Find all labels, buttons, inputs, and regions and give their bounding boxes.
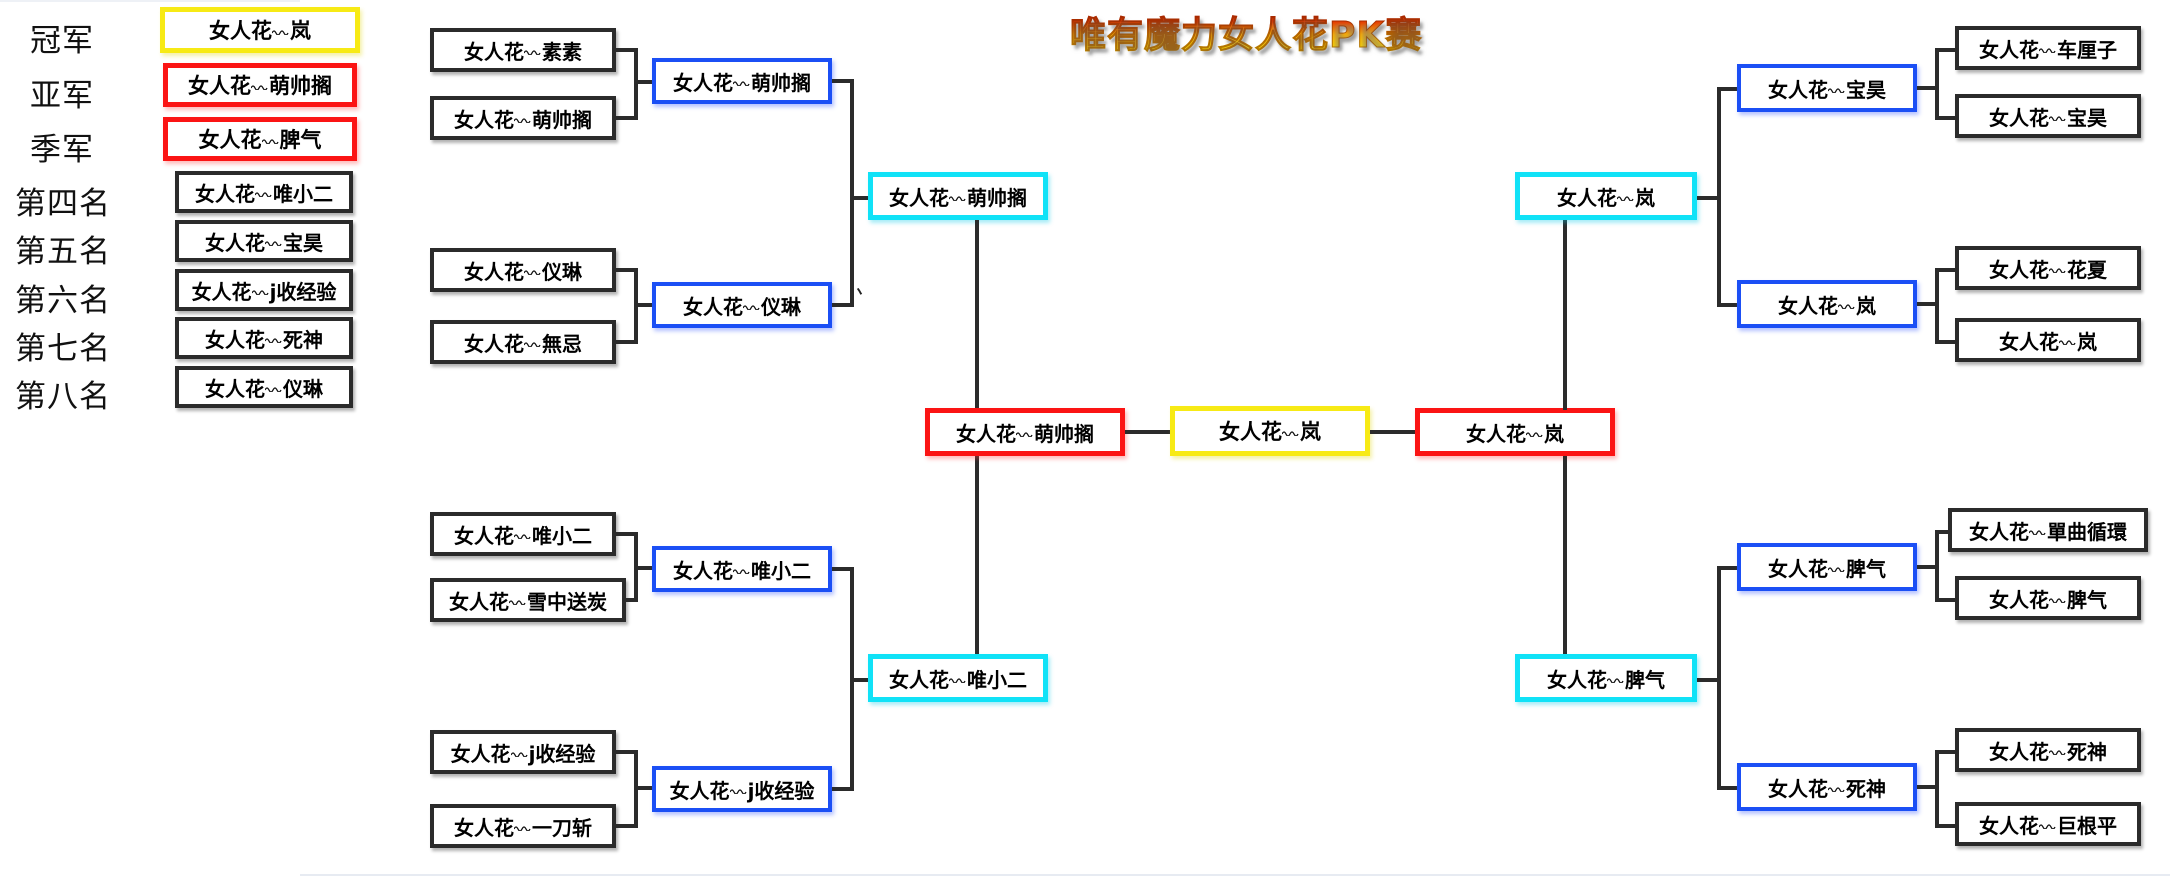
connector-left-to-champ	[1125, 430, 1170, 434]
rank-name-3-text: 女人花脾气	[199, 124, 322, 154]
left-entrant-4-text: 女人花無忌	[464, 328, 582, 357]
wavy-underscore-icon	[514, 107, 532, 127]
connector-rq1-h	[1717, 87, 1739, 91]
wavy-underscore-icon	[2039, 37, 2057, 57]
wavy-underscore-icon	[733, 558, 751, 578]
wavy-underscore-icon	[2059, 329, 2077, 349]
connector-rq4-h	[1717, 786, 1739, 790]
wavy-underscore-icon	[262, 126, 280, 147]
wavy-underscore-icon	[949, 667, 967, 687]
right-entrant-4[interactable]: 女人花岚	[1955, 318, 2141, 362]
connector-re4b-h	[1935, 824, 1957, 828]
left-entrant-2[interactable]: 女人花萌帅搁	[430, 96, 616, 140]
right-entrant-5-text: 女人花單曲循環	[1969, 516, 2127, 545]
connector-re2a-h	[1935, 268, 1957, 272]
connector-lfinal-v-top	[975, 220, 979, 412]
right-entrant-5[interactable]: 女人花單曲循環	[1948, 508, 2148, 552]
wavy-underscore-icon	[1526, 421, 1544, 441]
wavy-underscore-icon	[730, 778, 748, 798]
left-quarter-4-text: 女人花j收经验	[670, 775, 815, 804]
right-quarter-1[interactable]: 女人花宝昊	[1737, 64, 1917, 112]
connector-rq2-h	[1717, 303, 1739, 307]
wavy-underscore-icon	[1016, 421, 1034, 441]
wavy-underscore-icon	[524, 259, 542, 279]
left-semi-2-text: 女人花唯小二	[889, 664, 1027, 693]
connector-re1-v	[1935, 48, 1939, 120]
left-entrant-8[interactable]: 女人花一刀斩	[430, 804, 616, 848]
connector-rfinal-v-bot	[1563, 456, 1567, 654]
wavy-underscore-icon	[743, 294, 761, 314]
rank-label-6: 第六名	[15, 275, 111, 320]
wavy-underscore-icon	[1838, 293, 1856, 313]
wavy-underscore-icon	[511, 741, 529, 761]
rank-name-2[interactable]: 女人花萌帅搁	[163, 63, 357, 107]
right-entrant-8-text: 女人花巨根平	[1979, 810, 2117, 839]
rank-name-3[interactable]: 女人花脾气	[163, 117, 357, 161]
right-entrant-2[interactable]: 女人花宝昊	[1955, 94, 2141, 138]
right-entrant-1[interactable]: 女人花车厘子	[1955, 26, 2141, 70]
connector-re1b-h	[1935, 116, 1957, 120]
wavy-underscore-icon	[2049, 587, 2067, 607]
right-quarter-2[interactable]: 女人花岚	[1737, 280, 1917, 328]
left-entrant-6[interactable]: 女人花雪中送炭	[430, 578, 626, 622]
wavy-underscore-icon	[265, 230, 283, 250]
left-semi-1-text: 女人花萌帅搁	[889, 182, 1027, 211]
right-entrant-6-text: 女人花脾气	[1989, 584, 2107, 613]
right-entrant-6[interactable]: 女人花脾气	[1955, 576, 2141, 620]
rank-name-6-text: 女人花j收经验	[192, 276, 337, 305]
right-entrant-3-text: 女人花花夏	[1989, 254, 2107, 283]
right-semi-1[interactable]: 女人花岚	[1515, 172, 1697, 220]
connector-re3b-h	[1935, 598, 1957, 602]
connector-re4-v	[1935, 750, 1939, 826]
wavy-underscore-icon	[2049, 257, 2067, 277]
rank-label-3: 季军	[30, 124, 94, 169]
right-entrant-2-text: 女人花宝昊	[1989, 102, 2107, 131]
connector-champ-to-right	[1370, 430, 1415, 434]
right-quarter-2-text: 女人花岚	[1778, 290, 1876, 319]
rank-name-2-text: 女人花萌帅搁	[188, 70, 332, 100]
connector-re2b-h	[1935, 340, 1957, 344]
rank-label-8: 第八名	[15, 371, 111, 416]
rank-name-1-text: 女人花岚	[209, 15, 311, 45]
wavy-underscore-icon	[272, 17, 290, 38]
right-quarter-3[interactable]: 女人花脾气	[1737, 543, 1917, 591]
right-quarter-4[interactable]: 女人花死神	[1737, 763, 1917, 811]
rank-label-7: 第七名	[15, 323, 111, 368]
right-semi-1-text: 女人花岚	[1557, 182, 1655, 211]
left-quarter-3[interactable]: 女人花唯小二	[652, 546, 832, 592]
rank-name-1[interactable]: 女人花岚	[160, 7, 360, 53]
left-finalist[interactable]: 女人花萌帅搁	[925, 408, 1125, 456]
left-finalist-text: 女人花萌帅搁	[956, 418, 1094, 447]
champion-box[interactable]: 女人花岚	[1170, 406, 1370, 456]
rank-name-5-text: 女人花宝昊	[205, 227, 323, 256]
left-entrant-1-text: 女人花素素	[464, 36, 582, 65]
left-semi-2[interactable]: 女人花唯小二	[868, 654, 1048, 702]
left-quarter-3-text: 女人花唯小二	[673, 555, 811, 584]
rank-name-4-text: 女人花唯小二	[195, 178, 333, 207]
bracket-canvas: 唯有魔力女人花PK赛 唯有魔力女人花PK赛 冠军 亚军 季军 第四名 第五名 第…	[0, 0, 2174, 884]
left-quarter-2[interactable]: 女人花仪琳	[652, 282, 832, 328]
right-entrant-7-text: 女人花死神	[1989, 736, 2107, 765]
left-quarter-1[interactable]: 女人花萌帅搁	[652, 58, 832, 104]
left-entrant-5[interactable]: 女人花唯小二	[430, 512, 616, 556]
rank-name-6[interactable]: 女人花j收经验	[175, 269, 353, 311]
wavy-underscore-icon	[949, 185, 967, 205]
right-finalist-text: 女人花岚	[1466, 418, 1564, 447]
left-entrant-1[interactable]: 女人花素素	[430, 28, 616, 72]
rank-name-7-text: 女人花死神	[205, 324, 323, 353]
rank-name-4[interactable]: 女人花唯小二	[175, 171, 353, 213]
left-entrant-3[interactable]: 女人花仪琳	[430, 248, 616, 292]
connector-lfinal-v-bot	[975, 448, 979, 654]
bottom-divider	[300, 874, 2170, 876]
left-entrant-7-text: 女人花j收经验	[451, 738, 596, 767]
right-quarter-4-text: 女人花死神	[1768, 773, 1886, 802]
wavy-underscore-icon	[514, 523, 532, 543]
wavy-underscore-icon	[733, 70, 751, 90]
rank-name-8-text: 女人花仪琳	[205, 373, 323, 402]
left-entrant-4[interactable]: 女人花無忌	[430, 320, 616, 364]
left-entrant-6-text: 女人花雪中送炭	[449, 586, 607, 615]
wavy-underscore-icon	[1282, 418, 1300, 439]
connector-re4a-h	[1935, 750, 1957, 754]
wavy-underscore-icon	[265, 327, 283, 347]
connector-re2-v	[1935, 268, 1939, 342]
wavy-underscore-icon	[251, 72, 269, 93]
wavy-underscore-icon	[524, 39, 542, 59]
wavy-underscore-icon	[1828, 556, 1846, 576]
left-semi-1[interactable]: 女人花萌帅搁	[868, 172, 1048, 220]
right-finalist[interactable]: 女人花岚	[1415, 408, 1615, 456]
wavy-underscore-icon	[252, 279, 270, 299]
right-entrant-3[interactable]: 女人花花夏	[1955, 246, 2141, 290]
wavy-underscore-icon	[2029, 519, 2047, 539]
left-entrant-7[interactable]: 女人花j收经验	[430, 730, 616, 774]
rank-label-5: 第五名	[15, 226, 111, 271]
wavy-underscore-icon	[1607, 667, 1625, 687]
wavy-underscore-icon	[1828, 776, 1846, 796]
top-divider	[0, 0, 300, 2]
left-quarter-4[interactable]: 女人花j收经验	[652, 766, 832, 812]
stray-mark: 、	[854, 276, 881, 303]
connector-re1a-h	[1935, 48, 1957, 52]
left-entrant-2-text: 女人花萌帅搁	[454, 104, 592, 133]
wavy-underscore-icon	[509, 589, 527, 609]
left-entrant-5-text: 女人花唯小二	[454, 520, 592, 549]
rank-name-5[interactable]: 女人花宝昊	[175, 220, 353, 262]
left-entrant-8-text: 女人花一刀斩	[454, 812, 592, 841]
right-entrant-4-text: 女人花岚	[1999, 326, 2097, 355]
rank-label-4: 第四名	[15, 178, 111, 223]
wavy-underscore-icon	[524, 331, 542, 351]
right-quarter-1-text: 女人花宝昊	[1768, 74, 1886, 103]
right-entrant-7[interactable]: 女人花死神	[1955, 728, 2141, 772]
rank-name-8[interactable]: 女人花仪琳	[175, 366, 353, 408]
wavy-underscore-icon	[1828, 77, 1846, 97]
right-quarter-3-text: 女人花脾气	[1768, 553, 1886, 582]
rank-label-2: 亚军	[30, 70, 94, 115]
wavy-underscore-icon	[2049, 739, 2067, 759]
champion-text: 女人花岚	[1219, 416, 1321, 446]
left-entrant-3-text: 女人花仪琳	[464, 256, 582, 285]
rank-label-1: 冠军	[30, 15, 94, 60]
connector-lsemi1-v	[850, 79, 854, 305]
connector-rsemi2-v	[1717, 566, 1721, 788]
connector-re3-v	[1935, 530, 1939, 602]
wavy-underscore-icon	[255, 181, 273, 201]
wavy-underscore-icon	[514, 815, 532, 835]
wavy-underscore-icon	[2049, 105, 2067, 125]
right-semi-2-text: 女人花脾气	[1547, 664, 1665, 693]
page-title: 唯有魔力女人花PK赛	[1070, 6, 1510, 52]
right-semi-2[interactable]: 女人花脾气	[1515, 654, 1697, 702]
right-entrant-8[interactable]: 女人花巨根平	[1955, 802, 2141, 846]
connector-rq3-h	[1717, 566, 1739, 570]
wavy-underscore-icon	[2039, 813, 2057, 833]
left-quarter-1-text: 女人花萌帅搁	[673, 67, 811, 96]
wavy-underscore-icon	[1617, 185, 1635, 205]
connector-rfinal-v-top	[1563, 220, 1567, 410]
rank-name-7[interactable]: 女人花死神	[175, 317, 353, 359]
right-entrant-1-text: 女人花车厘子	[1979, 34, 2117, 63]
left-quarter-2-text: 女人花仪琳	[683, 291, 801, 320]
wavy-underscore-icon	[265, 376, 283, 396]
connector-rsemi1-v	[1717, 87, 1721, 305]
